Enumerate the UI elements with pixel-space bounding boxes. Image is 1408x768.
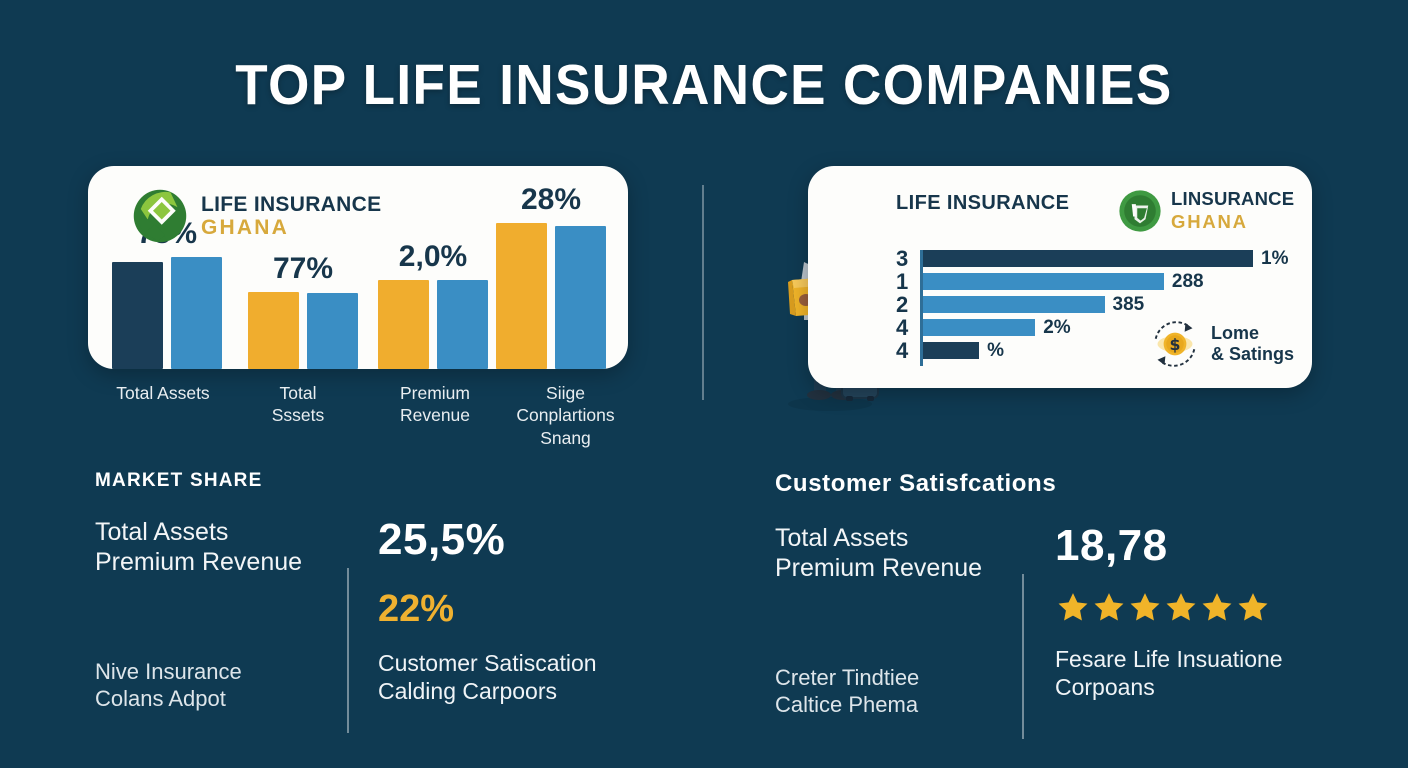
metric-line-2: Premium Revenue — [775, 554, 1020, 584]
logo-line-1: LIFE INSURANCE — [201, 194, 381, 215]
logo-line-2: GHANA — [201, 217, 381, 238]
caption-line-2: Calding Carpoors — [378, 678, 597, 706]
right-logo-line-1: LINSURANCE — [1171, 188, 1294, 210]
left-chart-card: 78%77%2,0%28% LIFE INSURANCE GHANA — [88, 166, 628, 369]
loans-savings-badge: $ Lome & Satings — [1147, 316, 1294, 372]
bar-value-label: 2,0% — [378, 240, 488, 274]
metric-sub-1: Nive Insurance — [95, 659, 340, 686]
star-filled-icon — [1091, 590, 1127, 624]
bar-segment — [437, 280, 488, 369]
bar-segment — [923, 296, 1105, 313]
coin-dollar-recycle-icon: $ — [1147, 316, 1203, 372]
bar-value-label: 2% — [1043, 317, 1070, 339]
bar-row: 31% — [896, 250, 1296, 267]
bar-group: 78% — [112, 257, 222, 369]
page-title: TOP LIFE INSURANCE COMPANIES — [49, 52, 1358, 118]
star-rating — [1055, 590, 1283, 624]
primary-value: 25,5% — [378, 518, 597, 562]
bar-category-label: 4 — [896, 340, 918, 362]
bar-row: 1288 — [896, 273, 1296, 290]
bar-segment — [555, 226, 606, 369]
market-share-metrics: Total Assets Premium Revenue Nive Insura… — [95, 518, 340, 713]
bar-row: 2385 — [896, 296, 1296, 313]
badge-line-2: & Satings — [1211, 344, 1294, 365]
bar-value-label: 28% — [496, 183, 606, 217]
market-share-title: MARKET SHARE — [95, 470, 695, 492]
star-filled-icon — [1199, 590, 1235, 624]
bar-segment — [378, 280, 429, 369]
bar-segment — [923, 319, 1035, 336]
bar-segment — [923, 250, 1253, 267]
caption-line-1: Customer Satiscation — [378, 650, 597, 678]
bar-value-label: % — [987, 340, 1004, 362]
bar-category-label: 4 — [896, 317, 918, 339]
metric-line-2: Premium Revenue — [95, 548, 340, 578]
bar-value-label: 77% — [248, 252, 358, 286]
market-share-values: 25,5% 22% Customer Satiscation Calding C… — [378, 518, 597, 705]
bar-category-label: 2 — [896, 294, 918, 316]
right-chart-card: LIFE INSURANCE LINSURANCE GHANA 31%12882… — [808, 166, 1312, 388]
star-filled-icon — [1127, 590, 1163, 624]
bar-segment — [307, 293, 358, 369]
bar-group: 28% — [496, 223, 606, 369]
customer-satisfaction-title: Customer Satisfcations — [775, 470, 1365, 498]
market-share-panel: MARKET SHARE Total Assets Premium Revenu… — [95, 470, 695, 718]
linsurance-ghana-logo-icon — [1118, 189, 1162, 233]
secondary-value: 22% — [378, 590, 597, 628]
star-filled-icon — [1163, 590, 1199, 624]
star-filled-icon — [1055, 590, 1091, 624]
life-insurance-ghana-logo: LIFE INSURANCE GHANA — [132, 188, 381, 244]
bar-segment — [923, 342, 979, 359]
bar-group: 2,0% — [378, 280, 488, 369]
caption-line-2: Corpoans — [1055, 674, 1283, 702]
bar-category-label: 1 — [896, 271, 918, 293]
badge-line-1: Lome — [1211, 323, 1294, 344]
axis-label: TotalSssets — [228, 382, 368, 427]
bar-value-label: 1% — [1261, 248, 1288, 270]
bar-segment — [496, 223, 547, 369]
customer-satisfaction-panel: Customer Satisfcations Total Assets Prem… — [775, 470, 1365, 724]
bar-group: 77% — [248, 292, 358, 369]
axis-label: SiigeConplartionsSnang — [478, 382, 653, 449]
bar-value-label: 288 — [1172, 271, 1204, 293]
star-filled-icon — [1235, 590, 1271, 624]
primary-value: 18,78 — [1055, 524, 1283, 568]
axis-label: Total Assets — [88, 382, 238, 404]
bar-category-label: 3 — [896, 248, 918, 270]
panel-divider — [1022, 574, 1024, 739]
caption-line-1: Fesare Life Insuatione — [1055, 646, 1283, 674]
metric-sub-2: Caltice Phema — [775, 692, 1020, 719]
satisfaction-values: 18,78 Fesare Life Insuatione Corpoans — [1055, 524, 1283, 701]
bar-segment — [112, 262, 163, 369]
bar-segment — [248, 292, 299, 369]
metric-line-1: Total Assets — [775, 524, 1020, 554]
linsurance-ghana-logo: LINSURANCE GHANA — [1118, 188, 1294, 233]
bar-segment — [923, 273, 1164, 290]
right-card-heading-label: LIFE INSURANCE — [896, 192, 1069, 215]
metric-sub-2: Colans Adpot — [95, 686, 340, 713]
section-divider — [702, 185, 704, 400]
bar-segment — [171, 257, 222, 369]
satisfaction-metrics: Total Assets Premium Revenue Creter Tind… — [775, 524, 1020, 719]
right-logo-line-2: GHANA — [1171, 211, 1294, 233]
metric-sub-1: Creter Tindtiee — [775, 665, 1020, 692]
svg-text:$: $ — [1170, 335, 1181, 354]
life-insurance-ghana-logo-icon — [132, 188, 188, 244]
panel-divider — [347, 568, 349, 733]
bar-value-label: 385 — [1113, 294, 1145, 316]
left-chart-axis-labels: Total AssetsTotalSssetsPremiumRevenueSii… — [88, 382, 648, 462]
metric-line-1: Total Assets — [95, 518, 340, 548]
